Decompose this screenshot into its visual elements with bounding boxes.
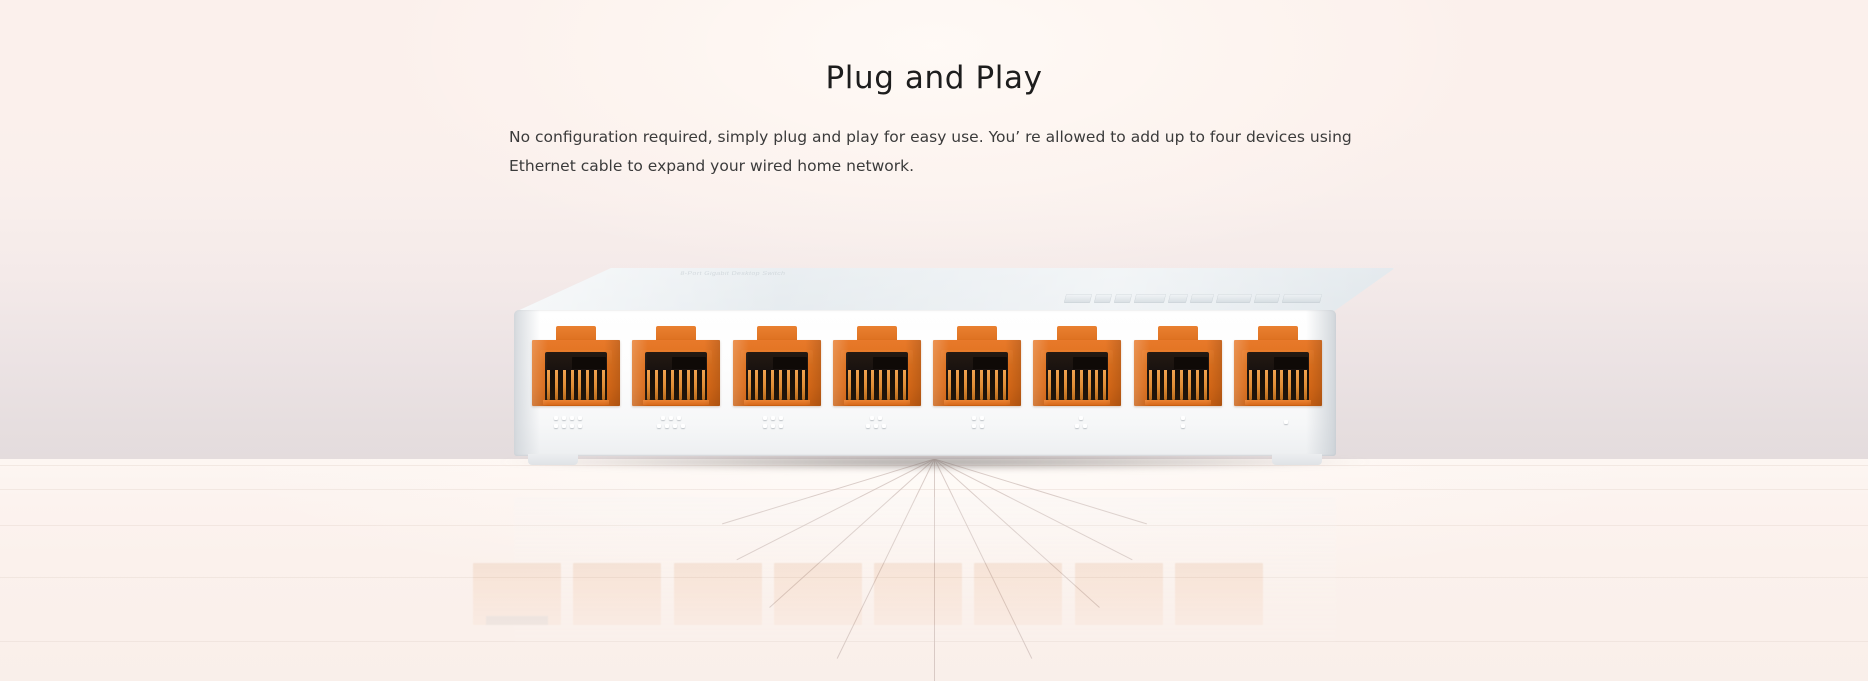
port-clip-slot xyxy=(1258,326,1298,341)
hero-stage: Plug and Play No configuration required,… xyxy=(0,0,1868,681)
vent-dot xyxy=(554,424,558,428)
vent-dot xyxy=(578,416,582,420)
port-shell xyxy=(933,340,1021,406)
ethernet-port-6[interactable] xyxy=(1033,326,1121,406)
vent-row xyxy=(1075,424,1087,428)
vent-row xyxy=(866,424,886,428)
port-shell xyxy=(733,340,821,406)
port-shading xyxy=(532,340,620,406)
port-clip-slot xyxy=(556,326,596,341)
vent-dot xyxy=(570,416,574,420)
vent-dot xyxy=(779,416,783,420)
ethernet-port-8[interactable] xyxy=(1234,326,1322,406)
led-indicator xyxy=(1094,294,1112,303)
ethernet-port-4[interactable] xyxy=(833,326,921,406)
vent-dot xyxy=(882,424,886,428)
vent-dot xyxy=(870,416,874,420)
vent-dot xyxy=(669,416,673,420)
page-description: No configuration required, simply plug a… xyxy=(509,123,1361,181)
vent-dot xyxy=(681,424,685,428)
vent-dot xyxy=(874,424,878,428)
port-shading xyxy=(733,340,821,406)
ethernet-port-5[interactable] xyxy=(933,326,1021,406)
led-indicator xyxy=(1282,294,1322,303)
led-indicator xyxy=(1216,294,1252,303)
led-indicator-strip xyxy=(1063,292,1351,305)
vent-row xyxy=(1181,416,1185,420)
port-clip-slot xyxy=(857,326,897,341)
led-indicator xyxy=(1254,294,1280,303)
vent-dot xyxy=(665,424,669,428)
vent-group xyxy=(1258,416,1314,438)
vent-row xyxy=(972,424,984,428)
vent-dot xyxy=(673,424,677,428)
vent-row xyxy=(1181,424,1185,428)
product-contact-shadow xyxy=(495,454,1375,470)
vent-dot xyxy=(763,424,767,428)
led-indicator xyxy=(1190,294,1214,303)
vent-dot xyxy=(866,424,870,428)
vent-dot xyxy=(972,416,976,420)
port-shell xyxy=(1234,340,1322,406)
vent-dot xyxy=(1075,424,1079,428)
product-switch: 8-Port Gigabit Desktop Switch xyxy=(455,268,1395,493)
rubber-foot-left xyxy=(528,454,578,465)
vent-dot xyxy=(657,424,661,428)
vent-row xyxy=(972,416,984,420)
ethernet-port-7[interactable] xyxy=(1134,326,1222,406)
vent-dot xyxy=(1181,424,1185,428)
vent-dot xyxy=(677,416,681,420)
description-line-1: No configuration required, simply plug a… xyxy=(509,128,1305,146)
port-shading xyxy=(1234,340,1322,406)
vent-group xyxy=(1155,416,1211,438)
port-shading xyxy=(1033,340,1121,406)
vent-dot xyxy=(980,424,984,428)
product-silkscreen-label: 8-Port Gigabit Desktop Switch xyxy=(679,271,1151,280)
vent-dot xyxy=(1083,424,1087,428)
port-shell xyxy=(833,340,921,406)
vent-dot xyxy=(779,424,783,428)
vent-row xyxy=(870,416,882,420)
vent-group xyxy=(950,416,1006,438)
product-front-face xyxy=(514,310,1336,456)
vent-dot xyxy=(562,416,566,420)
port-clip-slot xyxy=(1057,326,1097,341)
vent-dot xyxy=(1181,416,1185,420)
port-shell xyxy=(632,340,720,406)
vent-dot xyxy=(771,416,775,420)
vent-row xyxy=(1284,420,1288,424)
vent-dot xyxy=(980,416,984,420)
rubber-foot-right xyxy=(1272,454,1322,465)
ethernet-port-1[interactable] xyxy=(532,326,620,406)
vent-row xyxy=(661,416,681,420)
port-shading xyxy=(933,340,1021,406)
led-indicator xyxy=(1134,294,1166,303)
vent-row xyxy=(763,424,783,428)
vent-dot xyxy=(562,424,566,428)
ethernet-port-2[interactable] xyxy=(632,326,720,406)
vent-group xyxy=(1053,416,1109,438)
port-shading xyxy=(632,340,720,406)
vent-dot xyxy=(578,424,582,428)
vent-row xyxy=(763,416,783,420)
port-shell xyxy=(1033,340,1121,406)
vent-row xyxy=(657,424,685,428)
vent-dot xyxy=(771,424,775,428)
vent-dot xyxy=(661,416,665,420)
led-indicator xyxy=(1114,294,1132,303)
vent-group xyxy=(540,416,596,438)
vent-dot xyxy=(1284,420,1288,424)
led-indicator xyxy=(1168,294,1188,303)
vent-dot-row xyxy=(540,416,1314,438)
port-shading xyxy=(1134,340,1222,406)
port-clip-slot xyxy=(757,326,797,341)
port-shell xyxy=(1134,340,1222,406)
vent-dot xyxy=(878,416,882,420)
port-shell xyxy=(532,340,620,406)
vent-group xyxy=(745,416,801,438)
vent-row xyxy=(554,416,582,420)
vent-dot xyxy=(972,424,976,428)
vent-dot xyxy=(763,416,767,420)
port-clip-slot xyxy=(656,326,696,341)
vent-dot xyxy=(570,424,574,428)
vent-row xyxy=(1079,416,1083,420)
ethernet-port-3[interactable] xyxy=(733,326,821,406)
port-shading xyxy=(833,340,921,406)
vent-group xyxy=(643,416,699,438)
vent-row xyxy=(554,424,582,428)
vent-group xyxy=(848,416,904,438)
port-clip-slot xyxy=(957,326,997,341)
ethernet-port-row xyxy=(532,326,1322,408)
led-indicator xyxy=(1064,294,1092,303)
vent-dot xyxy=(554,416,558,420)
port-clip-slot xyxy=(1158,326,1198,341)
page-title: Plug and Play xyxy=(0,60,1868,96)
vent-dot xyxy=(1079,416,1083,420)
